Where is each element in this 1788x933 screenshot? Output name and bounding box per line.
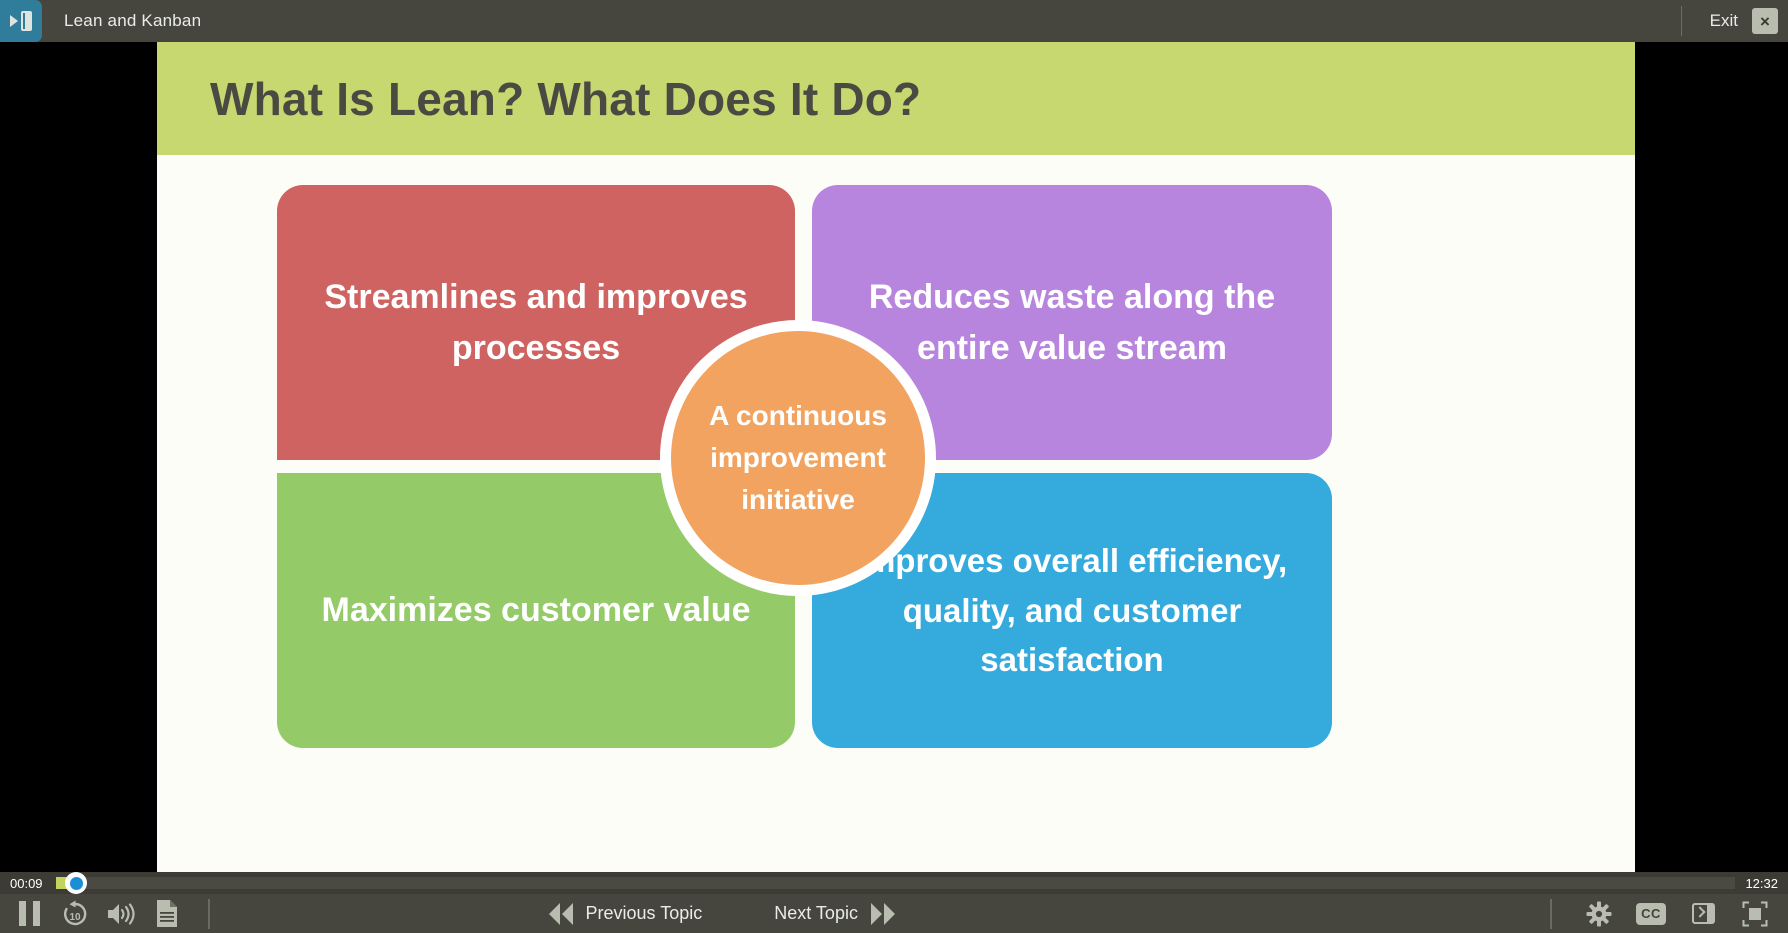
pause-icon	[19, 901, 40, 926]
captions-button[interactable]: CC	[1630, 894, 1672, 933]
volume-icon	[106, 901, 136, 927]
next-icon	[871, 903, 895, 925]
topic-navigation: Previous Topic Next Topic	[543, 903, 901, 925]
player-window: Lean and Kanban Exit × What Is Lean? Wha…	[0, 0, 1788, 933]
slide-stage: What Is Lean? What Does It Do? Streamlin…	[0, 42, 1788, 872]
center-circle: A continuous improvement initiative	[660, 320, 936, 596]
top-bar-divider	[1681, 6, 1682, 36]
playback-controls: 10	[0, 894, 226, 933]
seek-bar-row: 00:09 12:32	[0, 872, 1788, 894]
previous-icon	[549, 903, 573, 925]
elapsed-time: 00:09	[10, 876, 52, 891]
lean-quadrant-diagram: Streamlines and improves processes Reduc…	[157, 155, 1635, 872]
course-title: Lean and Kanban	[64, 11, 201, 31]
progress-handle[interactable]	[65, 872, 87, 894]
controls-divider-right	[1550, 899, 1552, 929]
next-topic-label: Next Topic	[774, 903, 858, 924]
control-bar: 10	[0, 894, 1788, 933]
quadrant-text: Improves overall efficiency, quality, an…	[834, 536, 1310, 685]
slide-title-band: What Is Lean? What Does It Do?	[157, 42, 1635, 155]
replay-10-icon: 10	[60, 899, 90, 929]
panel-toggle-icon	[1691, 903, 1715, 924]
gear-icon	[1586, 901, 1612, 927]
progress-scrubber[interactable]	[56, 877, 1735, 889]
top-bar: Lean and Kanban Exit ×	[0, 0, 1788, 42]
pause-button[interactable]	[8, 894, 50, 933]
previous-topic-button[interactable]: Previous Topic	[543, 903, 709, 925]
previous-topic-label: Previous Topic	[586, 903, 703, 924]
cc-icon: CC	[1636, 903, 1666, 925]
replay-10-button[interactable]: 10	[54, 894, 96, 933]
panel-toggle-icon	[10, 11, 32, 31]
transcript-button[interactable]	[146, 894, 188, 933]
close-icon: ×	[1760, 13, 1770, 30]
center-circle-text: A continuous improvement initiative	[671, 395, 925, 521]
settings-button[interactable]	[1578, 894, 1620, 933]
quadrant-text: Reduces waste along the entire value str…	[834, 272, 1310, 374]
next-topic-button[interactable]: Next Topic	[768, 903, 901, 925]
utility-controls: CC	[1534, 894, 1788, 933]
fullscreen-icon	[1742, 901, 1768, 927]
panel-toggle-button[interactable]	[1682, 894, 1724, 933]
menu-toggle-button[interactable]	[0, 0, 42, 42]
exit-button[interactable]: Exit	[1710, 11, 1738, 31]
document-icon	[155, 899, 179, 928]
svg-text:10: 10	[69, 912, 81, 923]
top-bar-actions: Exit ×	[1681, 0, 1788, 42]
total-time: 12:32	[1745, 876, 1778, 891]
slide-title: What Is Lean? What Does It Do?	[210, 72, 921, 126]
volume-button[interactable]	[100, 894, 142, 933]
controls-divider-left	[208, 899, 210, 929]
slide-canvas: What Is Lean? What Does It Do? Streamlin…	[157, 42, 1635, 872]
close-button[interactable]: ×	[1752, 8, 1778, 34]
quadrant-text: Maximizes customer value	[322, 585, 751, 636]
fullscreen-button[interactable]	[1734, 894, 1776, 933]
